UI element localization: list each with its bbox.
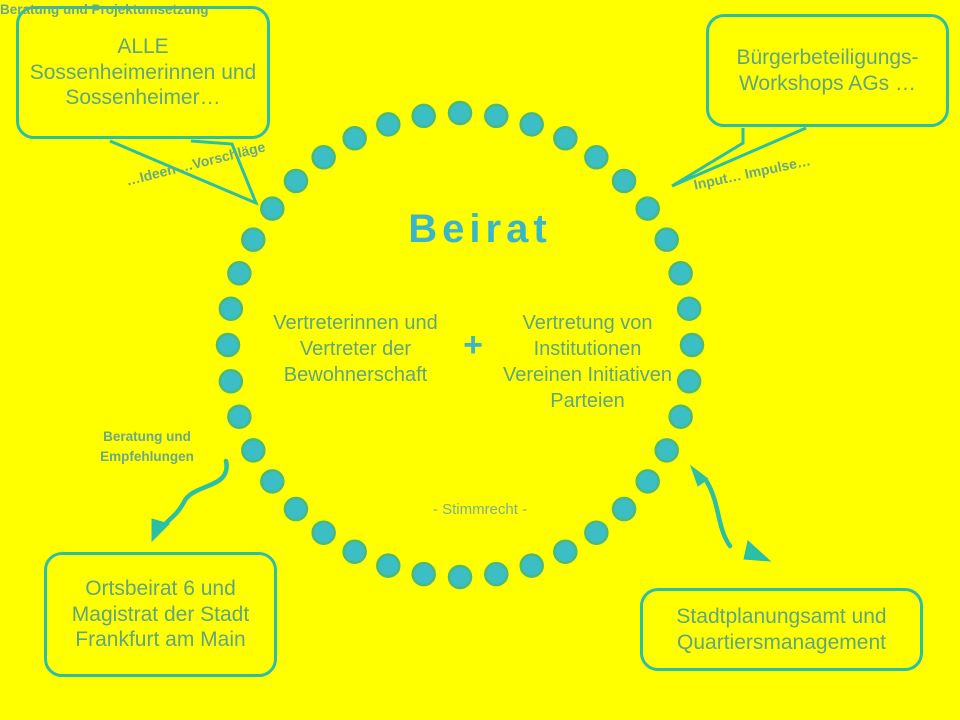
ring-dot [377, 555, 399, 577]
ring-dot [521, 113, 543, 135]
diagram-canvas: Beirat + Vertreterinnen und Vertreter de… [0, 0, 960, 720]
page-title: Beirat [280, 203, 680, 255]
plus-icon: + [443, 328, 503, 362]
ring-dot [613, 170, 635, 192]
ring-dot [656, 439, 678, 461]
ring-dot [681, 334, 703, 356]
ring-dot [585, 522, 607, 544]
annotation-beratung-empfehlungen: Beratung und Empfehlungen [72, 427, 222, 466]
ring-dot [449, 102, 471, 124]
ring-dot [585, 146, 607, 168]
ring-dot [554, 541, 576, 563]
ring-dot [220, 298, 242, 320]
box-ortsbeirat-label: Ortsbeirat 6 und Magistrat der Stadt Fra… [57, 576, 264, 653]
ring-dot [413, 563, 435, 585]
ring-dot [261, 470, 283, 492]
ring-dot [670, 262, 692, 284]
ring-column-right: Vertretung von Institutionen Vereinen In… [500, 310, 675, 414]
ring-dot [313, 146, 335, 168]
ring-dot [217, 334, 239, 356]
ring-dot [313, 522, 335, 544]
annotation-ideen-vorschlaege: …Ideen …Vorschläge [124, 137, 267, 190]
ring-dot [678, 298, 700, 320]
box-stadtplanung[interactable]: Stadtplanungsamt und Quartiersmanagement [640, 588, 923, 671]
box-stadtplanung-label: Stadtplanungsamt und Quartiersmanagement [653, 604, 910, 655]
ring-dot [637, 470, 659, 492]
ring-dot [228, 406, 250, 428]
ring-dot [554, 127, 576, 149]
arrowhead-down-projektumsetzung [744, 541, 770, 561]
bubble-citizens-label: ALLE Sossenheimerinnen und Sossenheimer… [29, 34, 257, 111]
ring-dot [613, 498, 635, 520]
ring-dot [413, 105, 435, 127]
ring-dot [449, 566, 471, 588]
ring-dot [377, 113, 399, 135]
voting-rights-note: - Stimmrecht - [380, 500, 580, 520]
ring-column-left: Vertreterinnen und Vertreter der Bewohne… [268, 310, 443, 388]
ring-dot [344, 541, 366, 563]
arrow-beratung-empfehlungen [161, 461, 227, 529]
bubble-workshops-label: Bürgerbeteiligungs- Workshops AGs … [719, 45, 936, 96]
ring-dot [485, 105, 507, 127]
arrow-beratung-projektumsetzung [707, 482, 730, 546]
bubble-workshops[interactable]: Bürgerbeteiligungs- Workshops AGs … [706, 14, 949, 127]
arrowhead-beratung-empfehlungen [152, 519, 169, 541]
ring-dot [242, 229, 264, 251]
arrowhead-up-projektumsetzung [691, 466, 708, 486]
ring-dot [242, 439, 264, 461]
annotation-input-impulse: Input… Impulse… [692, 151, 812, 194]
ring-dot [344, 127, 366, 149]
ring-dot [521, 555, 543, 577]
ring-dot [228, 262, 250, 284]
annotation-beratung-projektumsetzung: Beratung und Projektumsetzung [0, 0, 209, 20]
ring-dot [485, 563, 507, 585]
bubble-citizens[interactable]: ALLE Sossenheimerinnen und Sossenheimer… [16, 6, 270, 139]
box-ortsbeirat[interactable]: Ortsbeirat 6 und Magistrat der Stadt Fra… [44, 552, 277, 677]
ring-dot [678, 370, 700, 392]
ring-dot [285, 170, 307, 192]
ring-dot [220, 370, 242, 392]
ring-dot [285, 498, 307, 520]
